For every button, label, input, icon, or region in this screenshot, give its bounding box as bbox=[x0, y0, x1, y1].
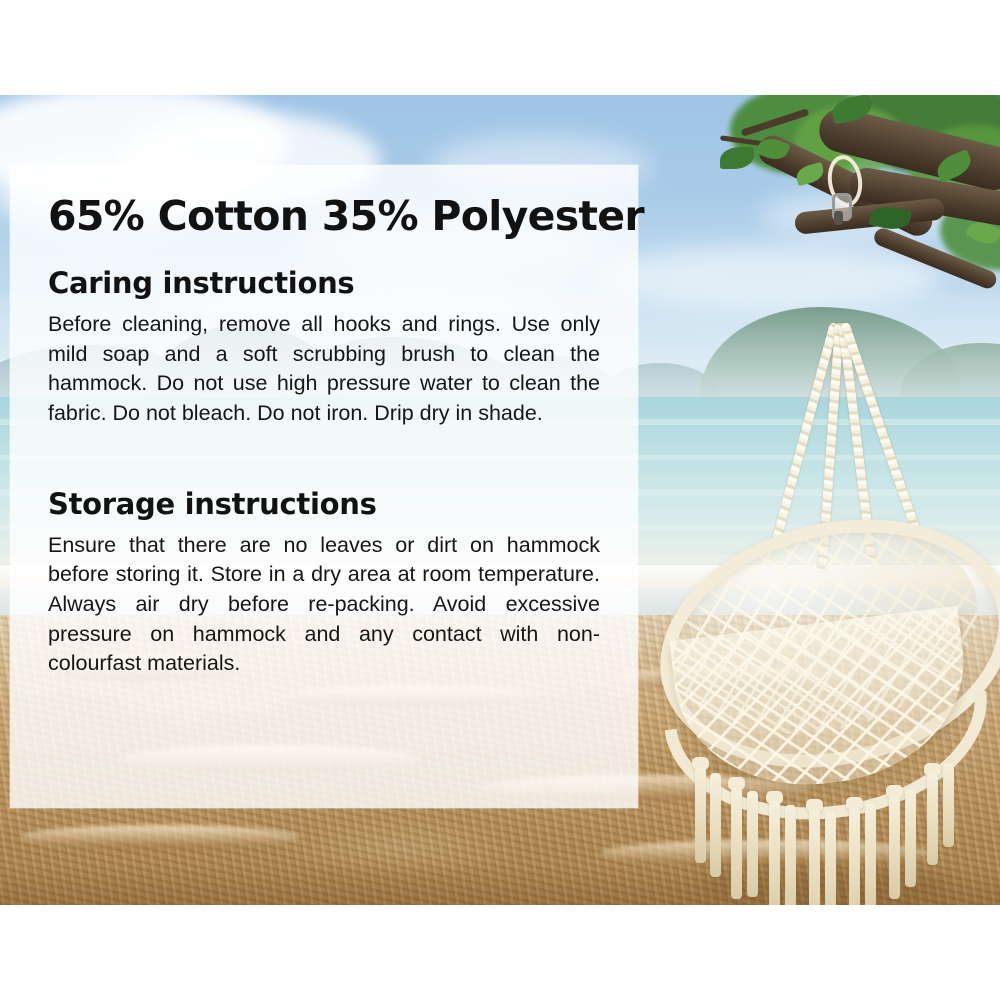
page-title: 65% Cotton 35% Polyester bbox=[48, 195, 600, 238]
fringe-tassel bbox=[710, 773, 721, 877]
fringe-tassel bbox=[825, 811, 836, 905]
fringe-tassel bbox=[927, 773, 938, 865]
fringe-tassel bbox=[865, 803, 876, 905]
fringe-tassel bbox=[747, 791, 758, 897]
section-heading-storage: Storage instructions bbox=[48, 487, 600, 521]
fringe-tassel bbox=[889, 795, 900, 899]
fringe-tassel bbox=[943, 763, 954, 847]
info-panel: 65% Cotton 35% Polyester Caring instruct… bbox=[10, 165, 638, 808]
product-image-canvas: 65% Cotton 35% Polyester Caring instruct… bbox=[0, 0, 1000, 1000]
fringe-tassel bbox=[785, 805, 796, 905]
fringe-tassel bbox=[905, 789, 916, 887]
macrame-hanging-chair bbox=[640, 305, 1000, 905]
fringe-tassel bbox=[849, 807, 860, 905]
fringe-tassel bbox=[769, 801, 780, 905]
fringe-tassel bbox=[809, 809, 820, 905]
hook-icon bbox=[834, 211, 843, 225]
fringe-tassel bbox=[731, 787, 742, 899]
section-body-caring: Before cleaning, remove all hooks and ri… bbox=[48, 310, 600, 429]
section-heading-caring: Caring instructions bbox=[48, 266, 600, 300]
fringe-tassel bbox=[695, 767, 706, 863]
section-body-storage: Ensure that there are no leaves or dirt … bbox=[48, 531, 600, 679]
